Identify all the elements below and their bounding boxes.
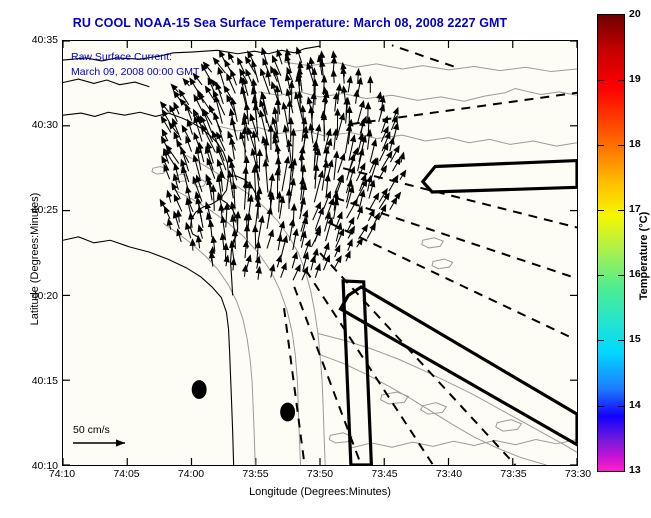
colorbar-tick: [618, 80, 624, 81]
colorbar: [597, 14, 625, 472]
y-axis-title: Latitude (Degrees:Minutes): [29, 129, 41, 389]
colorbar-tick: [618, 406, 624, 407]
y-axis-tick-label: 40:15: [32, 375, 58, 387]
x-axis-tick-label: 74:05: [113, 468, 139, 480]
x-axis-tick-label: 73:30: [565, 468, 591, 480]
station-markers: [192, 380, 295, 421]
colorbar-tick: [618, 145, 624, 146]
colorbar-tick-label: 20: [629, 8, 641, 20]
colorbar-tick: [598, 80, 604, 81]
x-axis-tick-label: 73:45: [371, 468, 397, 480]
current-vector-field: [160, 48, 405, 281]
map-canvas: [63, 41, 577, 465]
x-axis-tick-label: 74:00: [178, 468, 204, 480]
y-axis-tick-label: 40:35: [32, 34, 58, 46]
colorbar-tick: [618, 471, 624, 472]
colorbar-tick: [598, 406, 604, 407]
station-marker-east: [280, 403, 295, 422]
velocity-scale-legend: 50 cm/s: [67, 424, 177, 449]
colorbar-tick: [618, 210, 624, 211]
colorbar-tick: [618, 340, 624, 341]
colorbar-tick: [598, 210, 604, 211]
x-axis-tick-label: 73:50: [307, 468, 333, 480]
x-axis-tick-label: 73:55: [242, 468, 268, 480]
colorbar-tick: [598, 275, 604, 276]
y-axis-tick-label: 40:10: [32, 460, 58, 472]
colorbar-tick-label: 19: [629, 73, 641, 85]
y-axis-tick-label: 40:25: [32, 204, 58, 216]
x-axis-tick-label: 73:40: [436, 468, 462, 480]
colorbar-tick-label: 15: [629, 333, 641, 345]
colorbar-tick: [618, 275, 624, 276]
radar-radial-lines: [284, 45, 577, 465]
shipping-lane-vertical: [343, 281, 371, 465]
colorbar-tick: [598, 340, 604, 341]
colorbar-tick: [598, 145, 604, 146]
sst-map-figure: RU COOL NOAA-15 Sea Surface Temperature:…: [0, 0, 651, 518]
station-marker-west: [192, 380, 207, 399]
x-axis-title: Longitude (Degrees:Minutes): [62, 486, 578, 498]
scale-legend-label: 50 cm/s: [67, 424, 177, 436]
colorbar-tick-label: 14: [629, 399, 641, 411]
colorbar-gradient: [598, 15, 624, 471]
colorbar-tick-label: 16: [629, 268, 641, 280]
colorbar-tick-label: 17: [629, 203, 641, 215]
map-plot-area: Raw Surface Current: March 09, 2008 00:0…: [62, 40, 578, 466]
x-axis-tick-label: 73:35: [500, 468, 526, 480]
colorbar-tick-label: 13: [629, 464, 641, 476]
y-axis-tick-label: 40:20: [32, 290, 58, 302]
y-axis-tick-label: 40:30: [32, 119, 58, 131]
arrow-right-icon: [67, 437, 137, 449]
colorbar-tick: [598, 471, 604, 472]
shipping-lane-diagonal: [341, 287, 577, 445]
colorbar-tick-label: 18: [629, 138, 641, 150]
shipping-lane-north: [423, 161, 577, 192]
page-title: RU COOL NOAA-15 Sea Surface Temperature:…: [0, 16, 580, 30]
